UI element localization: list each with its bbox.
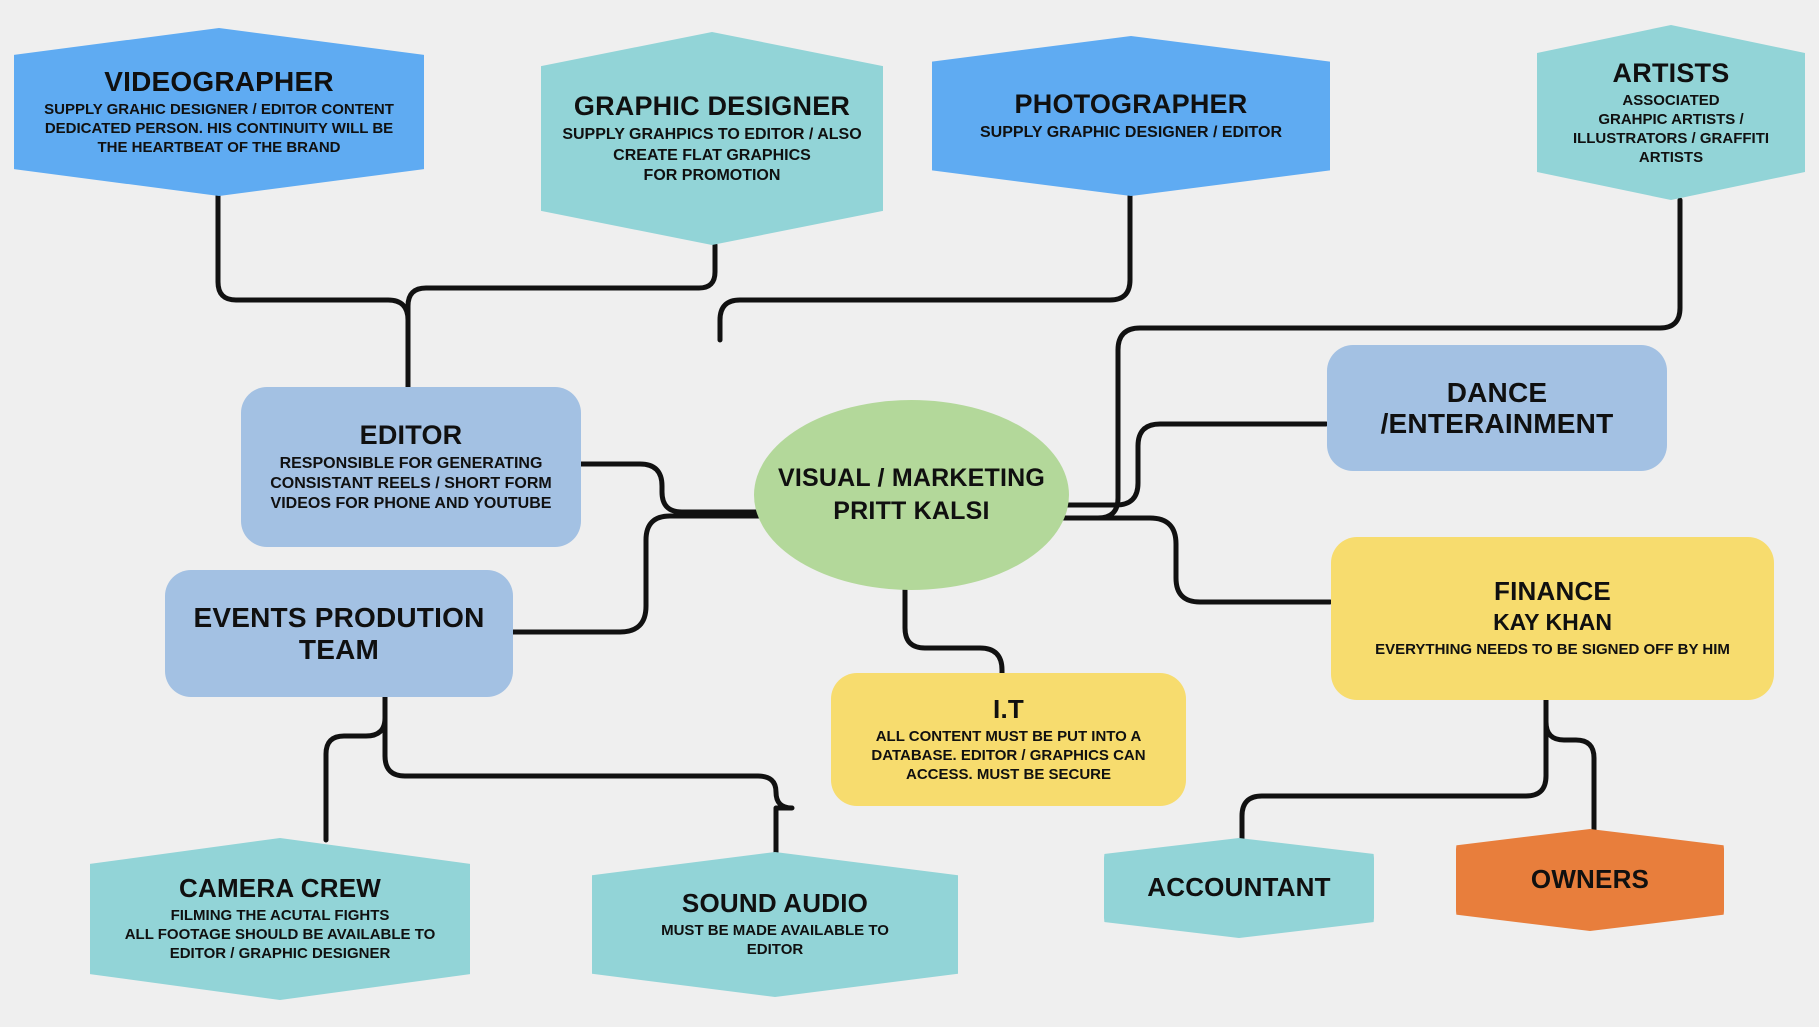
node-artists-sub: ASSOCIATED GRAHPIC ARTISTS / ILLUSTRATOR… xyxy=(1573,92,1769,168)
node-owners[interactable]: OWNERS xyxy=(1456,829,1724,931)
org-chart-canvas: VIDEOGRAPHER SUPPLY GRAHIC DESIGNER / ED… xyxy=(0,0,1819,1027)
connector-videographer-editor xyxy=(218,196,408,390)
node-graphic-designer-sub: SUPPLY GRAHPICS TO EDITOR / ALSO CREATE … xyxy=(562,125,861,185)
node-finance-sub: EVERYTHING NEEDS TO BE SIGNED OFF BY HIM xyxy=(1375,641,1730,660)
node-owners-title: OWNERS xyxy=(1531,865,1649,894)
node-graphic-designer[interactable]: GRAPHIC DESIGNER SUPPLY GRAHPICS TO EDIT… xyxy=(541,32,883,245)
node-it-sub: ALL CONTENT MUST BE PUT INTO A DATABASE.… xyxy=(871,728,1145,785)
node-sound-audio-sub: MUST BE MADE AVAILABLE TO EDITOR xyxy=(661,922,889,960)
node-finance[interactable]: FINANCE KAY KHAN EVERYTHING NEEDS TO BE … xyxy=(1331,537,1774,700)
node-editor-title: EDITOR xyxy=(360,420,463,450)
node-dance-entertainment-title: DANCE /ENTERAINMENT xyxy=(1381,377,1614,440)
connector-finance-owners xyxy=(1546,700,1594,838)
node-graphic-designer-title: GRAPHIC DESIGNER xyxy=(574,91,850,121)
node-videographer-title: VIDEOGRAPHER xyxy=(104,66,334,97)
node-sound-audio-title: SOUND AUDIO xyxy=(682,889,868,918)
node-events-production-team-title: EVENTS PRODUTION TEAM xyxy=(193,602,484,665)
connector-editor-visual xyxy=(580,464,762,512)
node-visual-marketing-title: VISUAL / MARKETING PRITT KALSI xyxy=(778,462,1045,529)
node-accountant[interactable]: ACCOUNTANT xyxy=(1104,838,1374,938)
node-videographer[interactable]: VIDEOGRAPHER SUPPLY GRAHIC DESIGNER / ED… xyxy=(14,28,424,196)
connector-events-cameracrew xyxy=(326,696,385,840)
node-camera-crew-sub: FILMING THE ACUTAL FIGHTS ALL FOOTAGE SH… xyxy=(125,907,436,964)
connector-finance-accountant xyxy=(1242,700,1546,846)
node-finance-person: KAY KHAN xyxy=(1493,609,1612,637)
node-camera-crew[interactable]: CAMERA CREW FILMING THE ACUTAL FIGHTS AL… xyxy=(90,838,470,1000)
connector-events-soundaudio xyxy=(385,700,792,866)
connector-graphicdesigner-editor xyxy=(408,245,715,390)
node-editor[interactable]: EDITOR RESPONSIBLE FOR GENERATING CONSIS… xyxy=(241,387,581,547)
node-photographer-title: PHOTOGRAPHER xyxy=(1015,89,1248,119)
node-events-production-team[interactable]: EVENTS PRODUTION TEAM xyxy=(165,570,513,697)
connector-visual-dance xyxy=(1060,424,1326,505)
node-camera-crew-title: CAMERA CREW xyxy=(179,874,381,903)
node-dance-entertainment[interactable]: DANCE /ENTERAINMENT xyxy=(1327,345,1667,471)
node-artists-title: ARTISTS xyxy=(1613,58,1730,88)
node-sound-audio[interactable]: SOUND AUDIO MUST BE MADE AVAILABLE TO ED… xyxy=(592,852,958,997)
node-photographer[interactable]: PHOTOGRAPHER SUPPLY GRAPHIC DESIGNER / E… xyxy=(932,36,1330,196)
node-finance-title: FINANCE xyxy=(1494,577,1611,606)
node-it[interactable]: I.T ALL CONTENT MUST BE PUT INTO A DATAB… xyxy=(831,673,1186,806)
node-visual-marketing[interactable]: VISUAL / MARKETING PRITT KALSI xyxy=(754,400,1069,590)
connector-visual-finance xyxy=(1062,518,1330,602)
node-photographer-sub: SUPPLY GRAPHIC DESIGNER / EDITOR xyxy=(980,123,1282,143)
node-it-title: I.T xyxy=(993,695,1024,724)
node-artists[interactable]: ARTISTS ASSOCIATED GRAHPIC ARTISTS / ILL… xyxy=(1537,25,1805,200)
node-videographer-sub: SUPPLY GRAHIC DESIGNER / EDITOR CONTENT … xyxy=(44,101,394,158)
node-accountant-title: ACCOUNTANT xyxy=(1147,873,1331,902)
node-editor-sub: RESPONSIBLE FOR GENERATING CONSISTANT RE… xyxy=(270,454,551,514)
